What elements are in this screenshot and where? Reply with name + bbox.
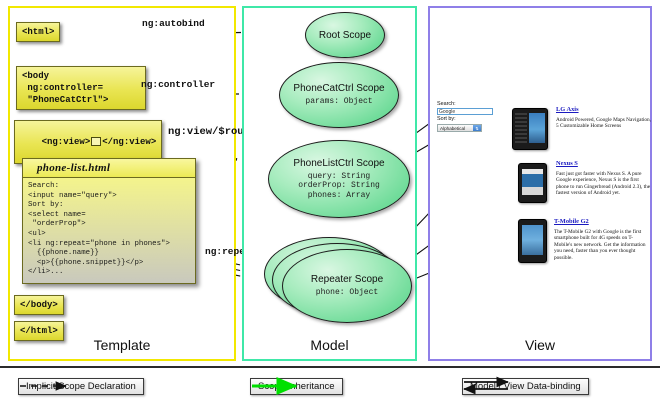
- scope-repeater-name: Repeater Scope: [311, 274, 383, 285]
- legend-item-implicit: Implicit Scope Declaration: [18, 377, 144, 395]
- diagram-canvas: Template <html> <body ng:controller= "Ph…: [0, 0, 660, 405]
- chevron-updown-icon: ⇅: [473, 125, 481, 132]
- legend-item-inheritance: Scope Inheritance: [250, 377, 343, 395]
- scope-phonecatctrl-name: PhoneCatCtrl Scope: [293, 83, 384, 94]
- label-ng-autobind: ng:autobind: [142, 18, 205, 29]
- phone-screen-art: [522, 225, 543, 255]
- tag-body-close: </body>: [14, 295, 64, 315]
- phone-thumbnail-1: [512, 108, 548, 150]
- tag-html-close: </html>: [14, 321, 64, 341]
- ngview-placeholder-icon: [91, 137, 101, 146]
- scope-root: Root Scope: [305, 12, 385, 58]
- dashed-arrow-icon: [18, 377, 76, 395]
- legend: Implicit Scope Declaration Scope Inherit…: [0, 366, 660, 407]
- note-code: Search: <input name="query"> Sort by: <s…: [23, 177, 195, 283]
- tag-html-open: <html>: [16, 22, 60, 42]
- scope-phonecatctrl: PhoneCatCtrl Scope params: Object: [279, 62, 399, 128]
- green-arrow-icon: [250, 377, 308, 395]
- double-arrow-icon: [462, 377, 520, 395]
- phone-list-item: LG Axis Android Powered, Google Maps Nav…: [556, 106, 652, 130]
- sort-select-value: Alphabetical: [440, 126, 465, 131]
- scope-repeater-props: phone: Object: [316, 288, 378, 298]
- scope-phonelistctrl-props: query: String orderProp: String phones: …: [298, 172, 380, 201]
- phone-keyboard-art: [515, 113, 527, 145]
- phone-link[interactable]: T-Mobile G2: [554, 218, 650, 226]
- phone-screen-art: [522, 169, 543, 195]
- phone-snippet: Android Powered, Google Maps Navigation,…: [556, 117, 652, 130]
- scope-repeater: Repeater Scope phone: Object: [282, 249, 412, 323]
- note-filename: phone-list.html: [23, 159, 195, 177]
- template-code-note: phone-list.html Search: <input name="que…: [22, 158, 196, 284]
- phone-link[interactable]: LG Axis: [556, 106, 652, 114]
- search-label: Search:: [437, 101, 497, 108]
- legend-item-databinding: Model / View Data-binding: [462, 377, 589, 395]
- tag-body-open: <body ng:controller= "PhoneCatCtrl">: [16, 66, 146, 110]
- phone-list-item: Nexus S Fast just got faster with Nexus …: [556, 160, 652, 197]
- panel-view-title: View: [430, 337, 650, 353]
- ngview-close-text: </ng:view>: [102, 137, 156, 147]
- phone-thumbnail-2: [518, 163, 547, 203]
- phone-screen-art: [529, 113, 545, 143]
- phone-snippet: The T-Mobile G2 with Google is the first…: [554, 229, 650, 261]
- scope-phonecatctrl-props: params: Object: [305, 97, 372, 107]
- search-input[interactable]: Google: [437, 108, 493, 115]
- phone-thumbnail-3: [518, 219, 547, 263]
- phone-link[interactable]: Nexus S: [556, 160, 652, 168]
- scope-phonelistctrl: PhoneListCtrl Scope query: String orderP…: [268, 140, 410, 218]
- scope-phonelistctrl-name: PhoneListCtrl Scope: [293, 158, 384, 169]
- panel-model-title: Model: [244, 337, 415, 353]
- scope-root-name: Root Scope: [319, 30, 371, 41]
- phone-snippet: Fast just got faster with Nexus S. A pur…: [556, 171, 652, 197]
- ngview-open-text: <ng:view>: [42, 137, 91, 147]
- phone-list-item: T-Mobile G2 The T-Mobile G2 with Google …: [554, 218, 650, 261]
- sort-select[interactable]: Alphabetical ⇅: [437, 124, 482, 132]
- view-search-widget: Search: Google Sort by: Alphabetical ⇅: [437, 101, 497, 132]
- label-ng-controller: ng:controller: [141, 79, 215, 90]
- sort-label: Sort by:: [437, 116, 497, 123]
